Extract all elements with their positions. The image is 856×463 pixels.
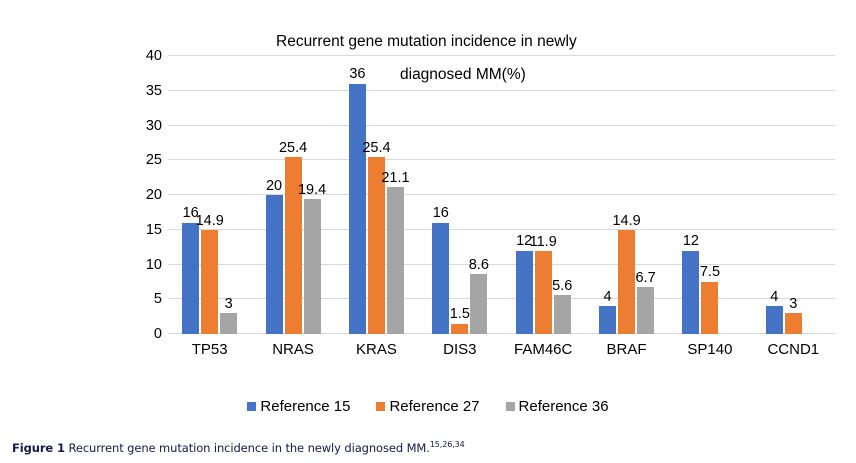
bar-braf-series-3[interactable]: 6.7 bbox=[637, 287, 654, 334]
figure-caption-text: Recurrent gene mutation incidence in the… bbox=[68, 441, 429, 455]
legend-swatch-icon bbox=[247, 402, 256, 411]
bar-value-label: 8.6 bbox=[469, 258, 489, 273]
bar-braf-series-2[interactable]: 14.9 bbox=[618, 230, 635, 334]
bar-fam46c-series-3[interactable]: 5.6 bbox=[554, 295, 571, 334]
x-axis-label-dis3: DIS3 bbox=[418, 342, 501, 357]
bar-dis3-series-3[interactable]: 8.6 bbox=[470, 274, 487, 334]
bar-value-label: 5.6 bbox=[552, 279, 572, 294]
bar-value-label: 4 bbox=[604, 290, 612, 305]
bar-group-fam46c: 1211.95.6FAM46C bbox=[502, 56, 585, 334]
figure-caption-references: 15,26,34 bbox=[430, 440, 465, 449]
bar-group-tp53: 1614.93TP53 bbox=[168, 56, 251, 334]
chart-title-line-1: Recurrent gene mutation incidence in new… bbox=[276, 34, 577, 50]
bar-group-kras: 3625.421.1KRAS bbox=[335, 56, 418, 334]
legend-label: Reference 15 bbox=[260, 398, 350, 415]
bar-value-label: 6.7 bbox=[635, 271, 655, 286]
bar-group-nras: 2025.419.4NRAS bbox=[251, 56, 334, 334]
y-axis-tick-35: 35 bbox=[130, 84, 162, 99]
plot-area: 1614.93TP532025.419.4NRAS3625.421.1KRAS1… bbox=[168, 56, 835, 334]
y-axis-tick-25: 25 bbox=[130, 153, 162, 168]
legend-item-2[interactable]: Reference 27 bbox=[376, 398, 479, 415]
figure-caption-label: Figure 1 bbox=[12, 441, 65, 455]
bar-value-label: 3 bbox=[225, 297, 233, 312]
bar-fam46c-series-2[interactable]: 11.9 bbox=[535, 251, 552, 334]
bar-value-label: 25.4 bbox=[362, 141, 390, 156]
bar-fam46c-series-1[interactable]: 12 bbox=[516, 251, 533, 334]
y-axis-tick-15: 15 bbox=[130, 223, 162, 238]
bar-ccnd1-series-2[interactable]: 3 bbox=[785, 313, 802, 334]
bar-value-label: 25.4 bbox=[279, 141, 307, 156]
y-axis-tick-20: 20 bbox=[130, 188, 162, 203]
y-axis-tick-0: 0 bbox=[130, 327, 162, 342]
bar-group-dis3: 161.58.6DIS3 bbox=[418, 56, 501, 334]
x-axis-label-sp140: SP140 bbox=[668, 342, 751, 357]
bar-tp53-series-2[interactable]: 14.9 bbox=[201, 230, 218, 334]
bar-value-label: 12 bbox=[683, 234, 699, 249]
x-axis-label-tp53: TP53 bbox=[168, 342, 251, 357]
bar-value-label: 14.9 bbox=[196, 214, 224, 229]
bar-value-label: 4 bbox=[770, 290, 778, 305]
y-axis-tick-5: 5 bbox=[130, 292, 162, 307]
chart-legend: Reference 15Reference 27Reference 36 bbox=[0, 398, 856, 415]
figure-caption: Figure 1 Recurrent gene mutation inciden… bbox=[12, 440, 465, 455]
legend-swatch-icon bbox=[506, 402, 515, 411]
bar-group-sp140: 127.5SP140 bbox=[668, 56, 751, 334]
bar-nras-series-1[interactable]: 20 bbox=[266, 195, 283, 334]
bar-value-label: 20 bbox=[266, 179, 282, 194]
figure-container: Recurrent gene mutation incidence in new… bbox=[0, 0, 856, 463]
y-axis-tick-10: 10 bbox=[130, 258, 162, 273]
bar-value-label: 19.4 bbox=[298, 183, 326, 198]
bar-group-braf: 414.96.7BRAF bbox=[585, 56, 668, 334]
bar-braf-series-1[interactable]: 4 bbox=[599, 306, 616, 334]
y-axis-tick-30: 30 bbox=[130, 119, 162, 134]
bar-kras-series-1[interactable]: 36 bbox=[349, 84, 366, 334]
legend-label: Reference 36 bbox=[519, 398, 609, 415]
bar-ccnd1-series-1[interactable]: 4 bbox=[766, 306, 783, 334]
chart-canvas: Recurrent gene mutation incidence in new… bbox=[0, 0, 856, 430]
x-axis-label-braf: BRAF bbox=[585, 342, 668, 357]
legend-label: Reference 27 bbox=[389, 398, 479, 415]
bar-kras-series-3[interactable]: 21.1 bbox=[387, 187, 404, 334]
bar-value-label: 11.9 bbox=[530, 235, 557, 250]
bar-value-label: 1.5 bbox=[450, 307, 470, 322]
bar-dis3-series-2[interactable]: 1.5 bbox=[451, 324, 468, 334]
y-axis-tick-40: 40 bbox=[130, 49, 162, 64]
bar-value-label: 3 bbox=[789, 297, 797, 312]
bar-value-label: 21.1 bbox=[381, 171, 409, 186]
legend-item-3[interactable]: Reference 36 bbox=[506, 398, 609, 415]
bar-nras-series-3[interactable]: 19.4 bbox=[304, 199, 321, 334]
legend-item-1[interactable]: Reference 15 bbox=[247, 398, 350, 415]
bar-value-label: 14.9 bbox=[612, 214, 640, 229]
x-axis-label-ccnd1: CCND1 bbox=[752, 342, 835, 357]
bar-group-ccnd1: 43CCND1 bbox=[752, 56, 835, 334]
x-axis-label-fam46c: FAM46C bbox=[502, 342, 585, 357]
bar-tp53-series-3[interactable]: 3 bbox=[220, 313, 237, 334]
bar-sp140-series-1[interactable]: 12 bbox=[682, 251, 699, 334]
bar-value-label: 16 bbox=[433, 206, 449, 221]
bar-value-label: 7.5 bbox=[700, 265, 720, 280]
bar-sp140-series-2[interactable]: 7.5 bbox=[701, 282, 718, 334]
legend-swatch-icon bbox=[376, 402, 385, 411]
x-axis-label-nras: NRAS bbox=[251, 342, 334, 357]
x-axis-label-kras: KRAS bbox=[335, 342, 418, 357]
bar-tp53-series-1[interactable]: 16 bbox=[182, 223, 199, 334]
bar-dis3-series-1[interactable]: 16 bbox=[432, 223, 449, 334]
bar-value-label: 36 bbox=[349, 67, 365, 82]
